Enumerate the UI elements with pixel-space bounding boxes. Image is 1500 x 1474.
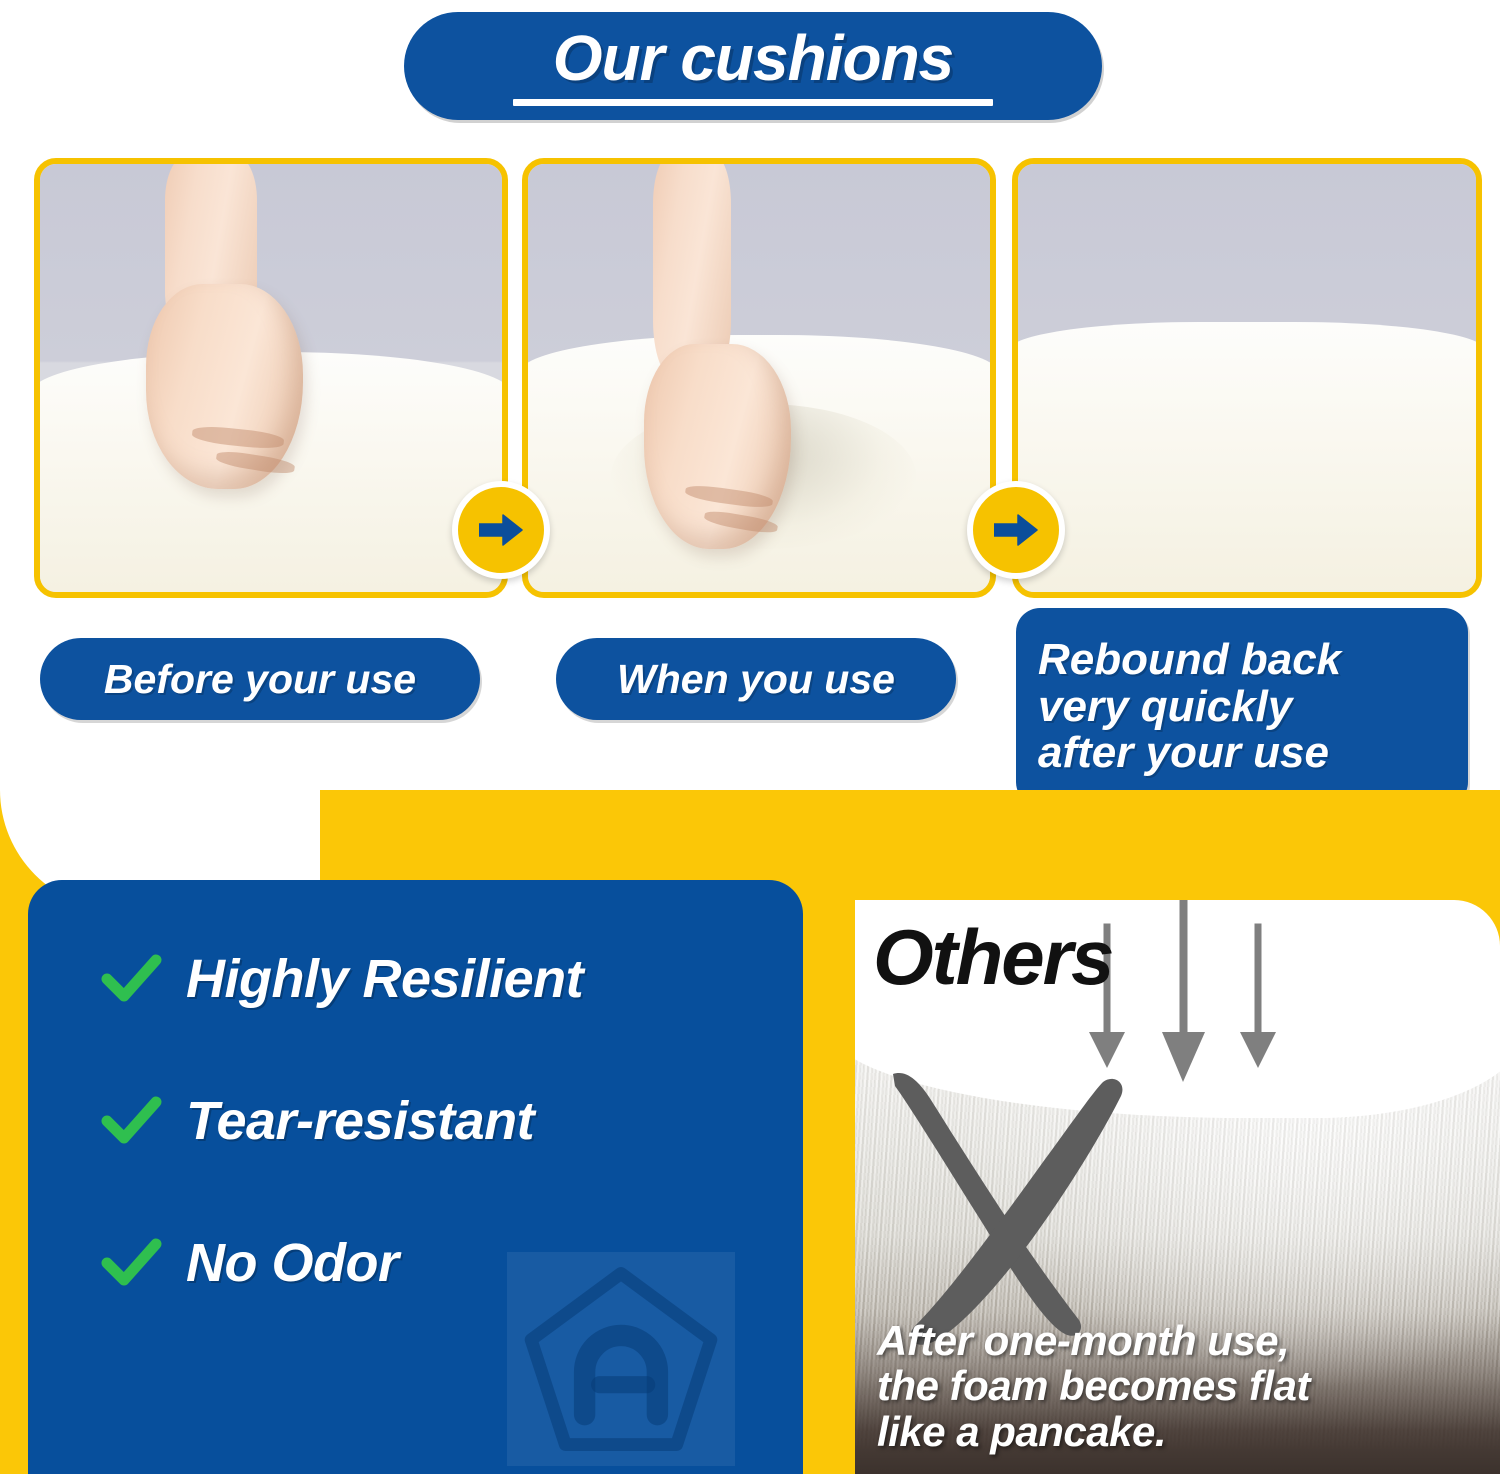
step-label-before: Before your use	[40, 638, 480, 720]
others-caption: After one-month use, the foam becomes fl…	[877, 1318, 1477, 1454]
feature-item: Highly Resilient	[100, 936, 760, 1022]
title-underline	[513, 99, 993, 106]
arrow-down-icon	[1180, 900, 1187, 1032]
pentagon-home-logo-icon	[507, 1252, 735, 1466]
others-caption-line-1: After one-month use,	[877, 1318, 1477, 1363]
step-label-rebound: Rebound back very quickly after your use	[1016, 608, 1468, 806]
step-label-when-text: When you use	[617, 656, 895, 703]
feature-label: Tear-resistant	[186, 1094, 534, 1148]
others-caption-line-3: like a pancake.	[877, 1409, 1477, 1454]
photo-panel-when	[522, 158, 996, 598]
check-icon	[100, 1090, 162, 1152]
foam-surface	[1012, 322, 1482, 598]
check-icon	[100, 948, 162, 1010]
brand-watermark	[507, 1252, 735, 1466]
others-title: Others	[873, 918, 1112, 996]
comparison-photo-row	[0, 158, 1500, 588]
feature-label: No Odor	[186, 1236, 398, 1290]
page-title: Our cushions	[537, 26, 970, 90]
photo-panel-after	[1012, 158, 1482, 598]
arrow-right-icon	[994, 513, 1038, 547]
rebound-line-1: Rebound back	[1038, 637, 1446, 684]
our-cushion-features-card: Highly Resilient Tear-resistant No Odor	[28, 880, 803, 1474]
step-label-before-text: Before your use	[104, 656, 416, 703]
rebound-line-2: very quickly	[1038, 684, 1446, 731]
step-arrow-badge-2	[967, 481, 1065, 579]
cross-x-icon	[865, 1052, 1165, 1352]
check-icon	[100, 1232, 162, 1294]
photo-panel-before	[34, 158, 508, 598]
step-label-when: When you use	[556, 638, 956, 720]
step-arrow-badge-1	[452, 481, 550, 579]
arrow-right-icon	[479, 513, 523, 547]
infographic-canvas: Our cushions	[0, 0, 1500, 1474]
page-title-banner: Our cushions	[404, 12, 1102, 120]
rebound-line-3: after your use	[1038, 730, 1446, 777]
feature-label: Highly Resilient	[186, 952, 583, 1006]
others-caption-line-2: the foam becomes flat	[877, 1363, 1477, 1408]
others-comparison-card: Others After one-month use, the foam bec…	[855, 900, 1500, 1474]
feature-item: Tear-resistant	[100, 1078, 760, 1164]
